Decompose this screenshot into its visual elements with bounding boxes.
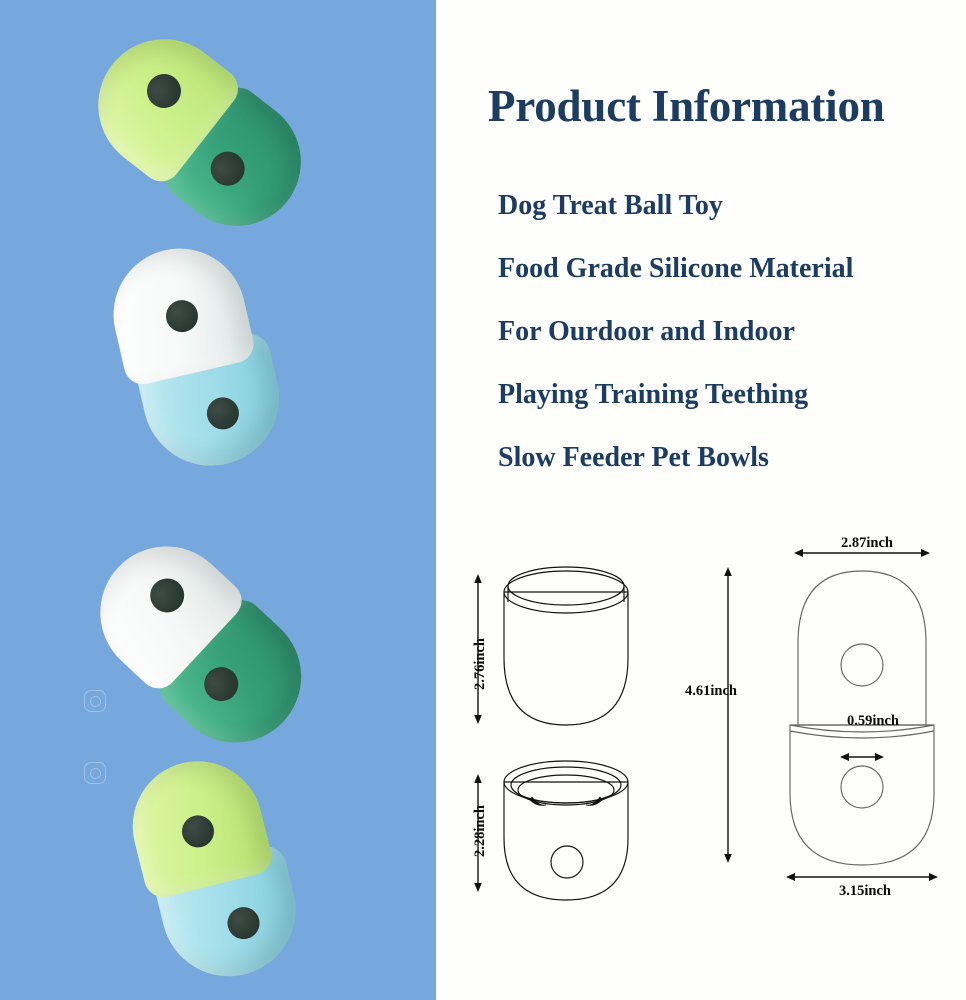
bubble-watermark-icon bbox=[84, 762, 106, 784]
dimension-diagrams: 2.76inch 2.28inch bbox=[436, 505, 966, 905]
dimension-label-bottom-piece-height: 2.28inch bbox=[472, 805, 489, 857]
dimension-label-hole-diameter: 0.59inch bbox=[847, 713, 899, 730]
product-photo-yellowgreen-cyan bbox=[117, 745, 334, 995]
product-photo-green-yellowgreen bbox=[75, 0, 332, 252]
product-photo-panel bbox=[0, 0, 436, 1000]
product-photo-white-cyan bbox=[97, 232, 312, 485]
dimension-label-top-piece-height: 2.76inch bbox=[472, 638, 489, 690]
feature-line-4: Playing Training Teething bbox=[498, 379, 966, 411]
page-title: Product Information bbox=[488, 80, 958, 132]
product-photo-white-green bbox=[76, 502, 337, 764]
assembled-view-diagram bbox=[680, 525, 966, 895]
dimension-label-top-width: 2.87inch bbox=[841, 535, 893, 552]
dimension-label-total-height: 4.61inch bbox=[685, 683, 737, 700]
feature-line-1: Dog Treat Ball Toy bbox=[498, 190, 966, 222]
dimension-label-bottom-width: 3.15inch bbox=[839, 883, 891, 900]
exploded-view-diagram bbox=[464, 550, 714, 930]
feature-line-3: For Ourdoor and Indoor bbox=[498, 316, 966, 348]
product-infographic: Product Information Dog Treat Ball Toy F… bbox=[0, 0, 966, 1000]
bubble-watermark-icon bbox=[84, 690, 106, 712]
feature-line-5: Slow Feeder Pet Bowls bbox=[498, 442, 966, 474]
feature-line-2: Food Grade Silicone Material bbox=[498, 253, 966, 285]
